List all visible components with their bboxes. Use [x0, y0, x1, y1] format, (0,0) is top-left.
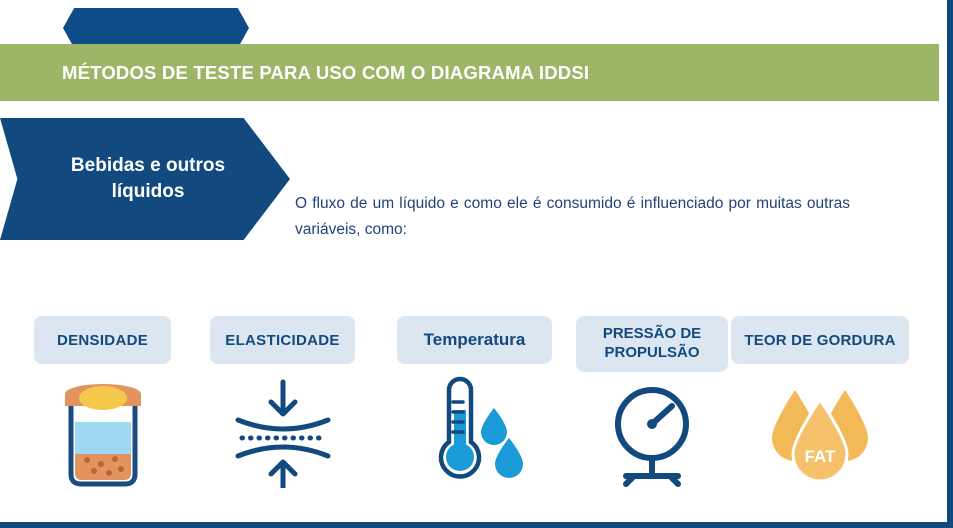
svg-text:FAT: FAT	[805, 447, 836, 466]
factor-label-densidade: DENSIDADE	[34, 316, 171, 364]
factor-temperatura: Temperatura	[397, 316, 552, 488]
factor-label-line1: PRESSÃO DE PROPULSÃO	[586, 325, 718, 363]
fat-droplets-icon: FAT	[755, 376, 885, 488]
category-label: Bebidas e outros líquidos	[48, 153, 248, 204]
frame-border-bottom	[0, 522, 953, 528]
factor-elasticidade: ELASTICIDADE	[210, 316, 355, 488]
factors-row: DENSIDADE ELASTICI	[34, 316, 924, 506]
decorative-hexagon-top	[63, 8, 249, 48]
factor-label-elasticidade: ELASTICIDADE	[210, 316, 355, 364]
page-title: MÉTODOS DE TESTE PARA USO COM O DIAGRAMA…	[62, 62, 589, 84]
factor-teor-de-gordura: TEOR DE GORDURA FAT	[731, 316, 909, 488]
factor-densidade: DENSIDADE	[34, 316, 171, 488]
compression-arrows-icon	[224, 376, 342, 488]
factor-label-teor-de-gordura: TEOR DE GORDURA	[731, 316, 909, 364]
factor-label-temperatura: Temperatura	[397, 316, 552, 364]
intro-paragraph: O fluxo de um líquido e como ele é consu…	[295, 191, 850, 244]
thermometer-droplets-icon	[419, 376, 531, 488]
category-hexagon: Bebidas e outros líquidos	[0, 118, 290, 240]
frame-border-right	[947, 0, 953, 528]
title-banner: MÉTODOS DE TESTE PARA USO COM O DIAGRAMA…	[0, 44, 939, 101]
pressure-gauge-icon	[596, 376, 708, 488]
glass-with-sediment-icon	[51, 376, 155, 488]
factor-pressao-de-propulsao: PRESSÃO DE PROPULSÃO	[576, 316, 728, 488]
factor-label-pressao-de-propulsao: PRESSÃO DE PROPULSÃO	[576, 316, 728, 372]
